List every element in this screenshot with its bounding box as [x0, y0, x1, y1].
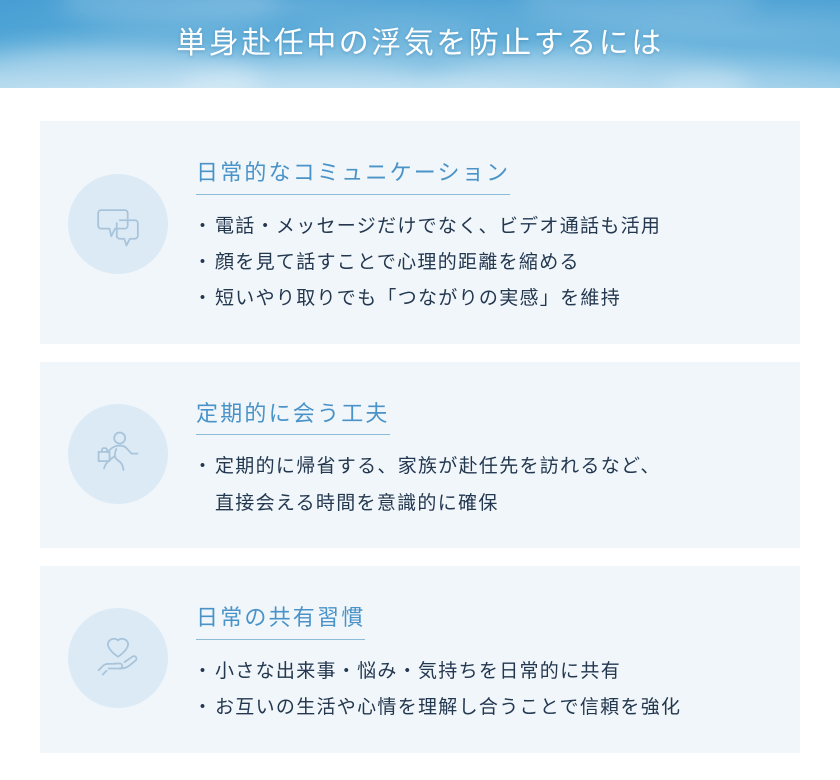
- bullet-item: 短いやり取りでも「つながりの実感」を維持: [196, 281, 776, 317]
- bullet-item: 定期的に帰省する、家族が赴任先を訪れるなど、 直接会える時間を意識的に確保: [196, 449, 776, 522]
- bullet-list: 小さな出来事・悩み・気持ちを日常的に共有 お互いの生活や心情を理解し合うことで信…: [196, 654, 776, 727]
- icon-badge: [68, 174, 168, 274]
- chat-bubbles-icon: [91, 197, 145, 251]
- card-body: 日常の共有習慣 小さな出来事・悩み・気持ちを日常的に共有 お互いの生活や心情を理…: [196, 592, 776, 726]
- info-card: 日常的なコミュニケーション 電話・メッセージだけでなく、ビデオ通話も活用 顔を見…: [40, 121, 800, 344]
- card-body: 日常的なコミュニケーション 電話・メッセージだけでなく、ビデオ通話も活用 顔を見…: [196, 147, 776, 318]
- card-title: 日常の共有習慣: [196, 604, 365, 640]
- card-title: 定期的に会う工夫: [196, 400, 390, 436]
- bullet-list: 定期的に帰省する、家族が赴任先を訪れるなど、 直接会える時間を意識的に確保: [196, 449, 776, 522]
- info-card: 日常の共有習慣 小さな出来事・悩み・気持ちを日常的に共有 お互いの生活や心情を理…: [40, 566, 800, 752]
- page-header: 単身赴任中の浮気を防止するには: [0, 0, 840, 88]
- card-body: 定期的に会う工夫 定期的に帰省する、家族が赴任先を訪れるなど、 直接会える時間を…: [196, 388, 776, 522]
- page-title: 単身赴任中の浮気を防止するには: [0, 0, 840, 88]
- card-list: 日常的なコミュニケーション 電話・メッセージだけでなく、ビデオ通話も活用 顔を見…: [0, 88, 840, 780]
- bullet-item: 小さな出来事・悩み・気持ちを日常的に共有: [196, 654, 776, 690]
- running-person-briefcase-icon: [91, 427, 145, 481]
- bullet-item: お互いの生活や心情を理解し合うことで信頼を強化: [196, 690, 776, 726]
- bullet-item: 顔を見て話すことで心理的距離を縮める: [196, 245, 776, 281]
- hand-holding-heart-icon: [91, 631, 145, 685]
- infographic-page: 単身赴任中の浮気を防止するには 日常的なコミュニケーション 電話・メッセージだけ…: [0, 0, 840, 740]
- icon-badge: [68, 608, 168, 708]
- card-title: 日常的なコミュニケーション: [196, 159, 510, 195]
- bullet-item: 電話・メッセージだけでなく、ビデオ通話も活用: [196, 209, 776, 245]
- info-card: 定期的に会う工夫 定期的に帰省する、家族が赴任先を訪れるなど、 直接会える時間を…: [40, 362, 800, 548]
- bullet-list: 電話・メッセージだけでなく、ビデオ通話も活用 顔を見て話すことで心理的距離を縮め…: [196, 209, 776, 318]
- icon-badge: [68, 404, 168, 504]
